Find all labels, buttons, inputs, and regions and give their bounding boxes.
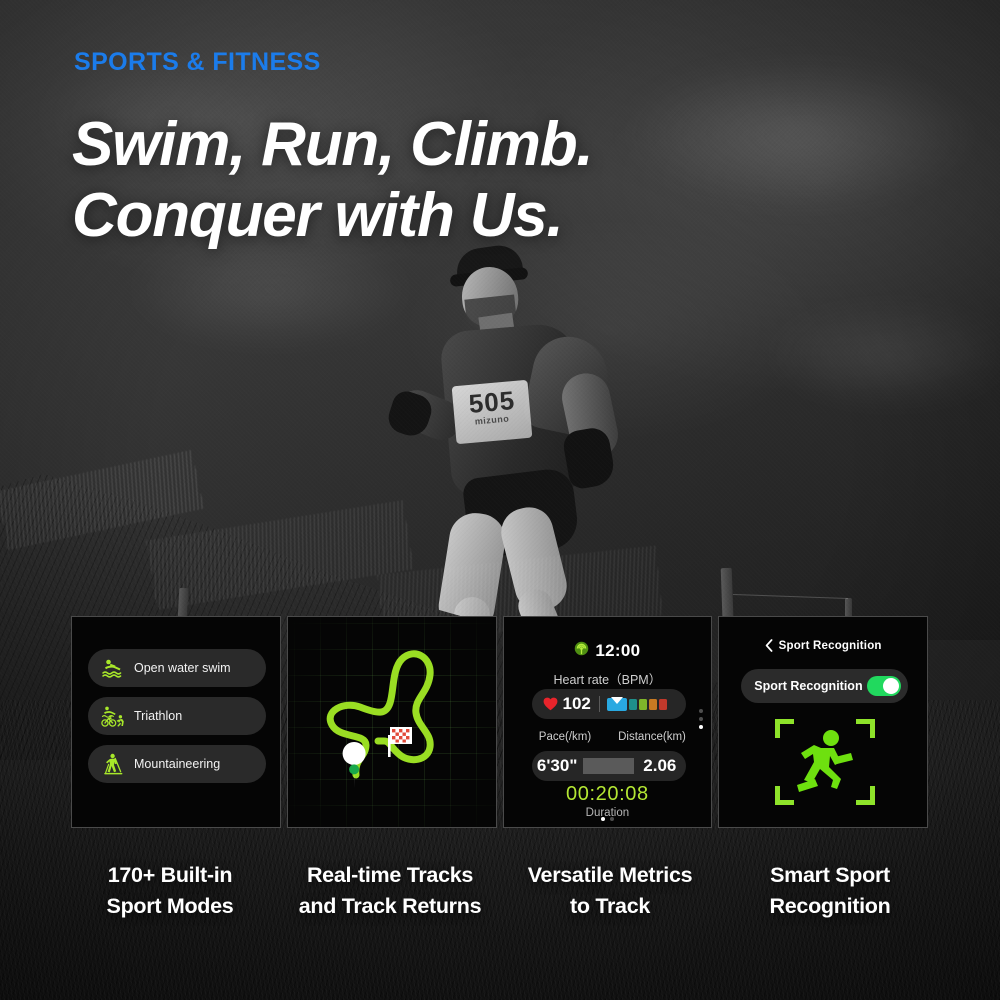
scan-bracket-icon [775,786,794,805]
heart-rate-row: 102 [532,689,686,719]
list-item-label: Triathlon [134,709,182,723]
dot [699,709,703,713]
list-item[interactable]: Open water swim [88,649,266,687]
screen-title: Sport Recognition [779,640,882,652]
pace-distance-labels: Pace(/km) Distance(km) [522,731,696,743]
dot [699,725,703,729]
caption: Real-time Tracks and Track Returns [280,860,500,921]
sport-recognition-toggle-row[interactable]: Sport Recognition [741,669,908,703]
chevron-left-icon[interactable] [765,639,773,652]
gps-track-path [288,617,497,828]
heart-icon [543,697,558,711]
zone-segment [639,699,647,710]
list-item-label: Open water swim [134,661,231,675]
dot [610,817,614,821]
list-item-label: Mountaineering [134,757,220,771]
caption: Smart Sport Recognition [720,860,940,921]
heart-rate-value: 102 [563,694,591,714]
heart-rate-zone-bar [607,698,667,711]
caption: 170+ Built-in Sport Modes [60,860,280,921]
feature-cards: Open water swim [71,616,928,828]
screen-header: Sport Recognition [719,639,927,652]
gps-signal-icon [574,641,589,661]
card-real-time-track[interactable] [287,616,497,828]
pace-value: 6'30" [532,756,583,776]
heart-rate-label: Heart rate（BPM） [504,669,712,688]
time-value: 12:00 [595,641,640,661]
watch-time: 12:00 [504,641,712,661]
caption-line-1: Real-time Tracks [307,863,473,887]
scan-bracket-icon [856,719,875,738]
open-water-swim-icon [101,657,125,679]
scan-bracket-icon [775,719,794,738]
headline-line-1: Swim, Run, Climb. [72,110,592,179]
caption-line-2: Recognition [770,894,891,918]
card-sport-recognition[interactable]: Sport Recognition Sport Recognition [718,616,928,828]
distance-value: 2.06 [634,756,685,776]
headline-line-2: Conquer with Us. [72,181,832,252]
page-title: Swim, Run, Climb. Conquer with Us. [72,110,832,251]
caption-line-2: to Track [570,894,650,918]
caption: Versatile Metrics to Track [500,860,720,921]
pace-distance-row: 6'30" 2.06 [532,751,686,781]
distance-label: Distance(km) [609,731,696,743]
scroll-indicator-vertical [699,709,703,729]
duration-value: 00:20:08 [504,783,712,806]
toggle-label: Sport Recognition [754,679,862,693]
divider [599,696,600,712]
caption-line-1: Versatile Metrics [528,863,693,887]
eyebrow-label: SPORTS & FITNESS [74,50,321,75]
zone-segment [607,698,627,711]
pace-label: Pace(/km) [522,731,609,743]
divider [583,758,634,774]
triathlon-icon [101,705,125,727]
sport-recognition-switch[interactable] [867,676,901,696]
sport-detection-frame [775,719,875,805]
list-item[interactable]: Mountaineering [88,745,266,783]
caption-line-2: and Track Returns [299,894,482,918]
zone-segment [649,699,657,710]
dot [699,717,703,721]
zone-segment [659,699,667,710]
card-metrics[interactable]: 12:00 Heart rate（BPM） 102 [503,616,713,828]
running-person-icon [793,729,857,800]
dot [601,817,605,821]
card-captions: 170+ Built-in Sport Modes Real-time Trac… [60,860,940,921]
sport-mode-list: Open water swim [88,649,266,783]
scan-bracket-icon [856,786,875,805]
caption-line-1: 170+ Built-in [108,863,233,887]
mountaineering-icon [101,753,125,775]
page-indicator [504,817,712,821]
zone-segment [629,699,637,710]
caption-line-1: Smart Sport [770,863,890,887]
card-sport-modes[interactable]: Open water swim [71,616,281,828]
caption-line-2: Sport Modes [107,894,234,918]
list-item[interactable]: Triathlon [88,697,266,735]
map-pin-icon [342,742,365,789]
